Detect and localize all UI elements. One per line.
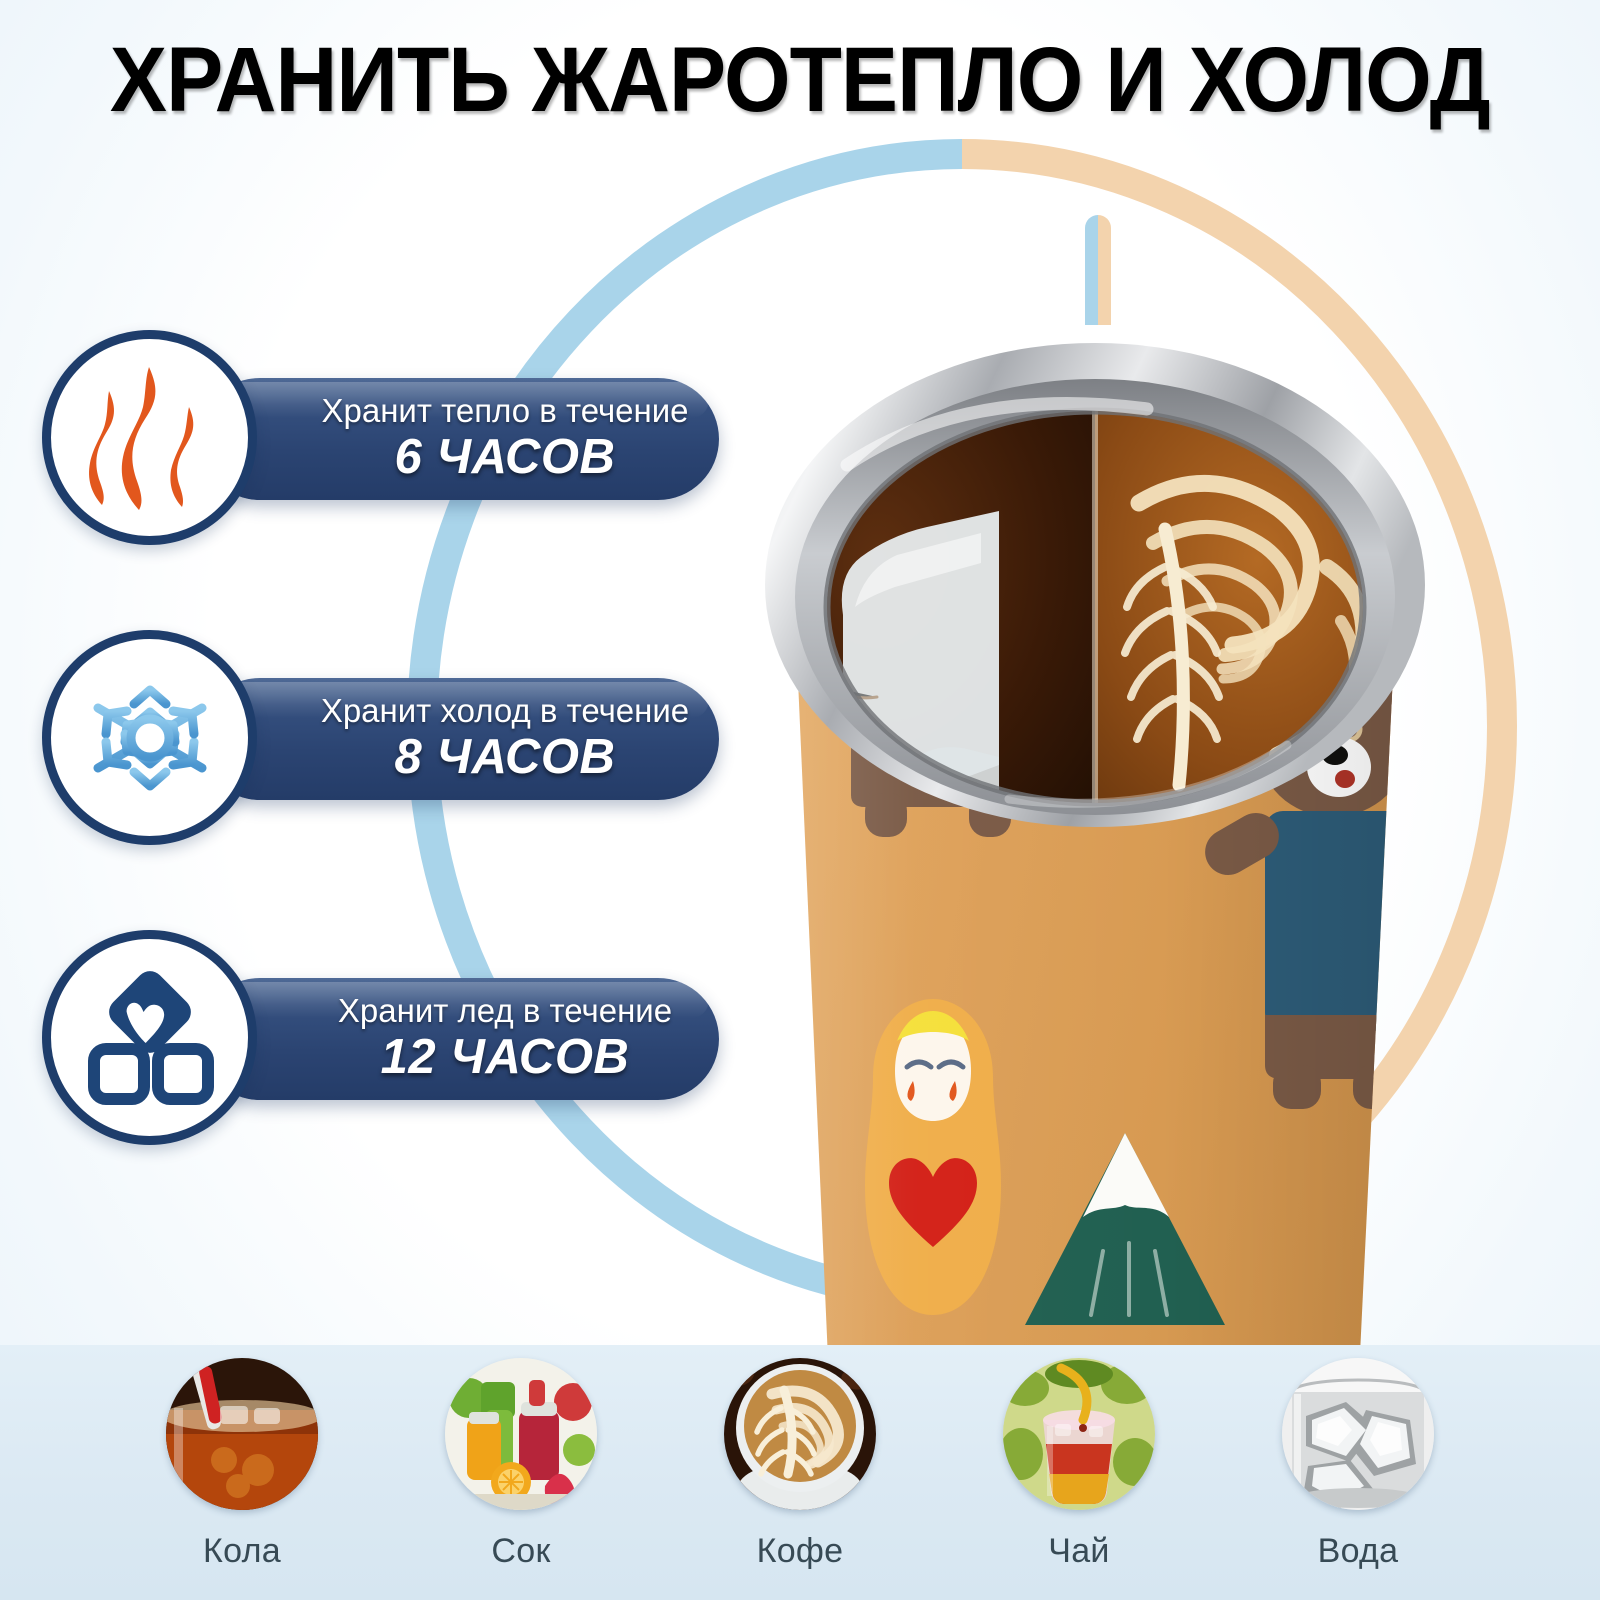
juice-icon <box>445 1358 597 1510</box>
drink-label: Сок <box>491 1532 550 1571</box>
drink-item-coffee[interactable]: Кофе <box>723 1358 878 1571</box>
cup-opening <box>735 315 1455 835</box>
feature-item-cold[interactable]: Хранит холод в течение 8 ЧАСОВ <box>24 630 724 845</box>
feature-cold-caption: Хранит холод в течение <box>321 694 689 729</box>
drink-item-water[interactable]: Вода <box>1281 1358 1436 1571</box>
heat-waves-icon <box>42 330 257 545</box>
drink-label: Кофе <box>757 1532 844 1571</box>
feature-ice-caption: Хранит лед в течение <box>338 994 672 1029</box>
drink-label: Вода <box>1318 1532 1399 1571</box>
feature-pill-ice[interactable]: Хранит лед в течение 12 ЧАСОВ <box>199 978 719 1100</box>
feature-list: Хранит тепло в течение 6 ЧАСОВ Хранит хо… <box>24 330 724 1145</box>
drink-label: Чай <box>1048 1532 1109 1571</box>
ice-cubes-icon <box>42 930 257 1145</box>
feature-heat-duration: 6 ЧАСОВ <box>395 431 616 484</box>
feature-item-heat[interactable]: Хранит тепло в течение 6 ЧАСОВ <box>24 330 724 545</box>
tea-icon <box>1003 1358 1155 1510</box>
snowflake-icon <box>42 630 257 845</box>
infographic-canvas: ХРАНИТЬ ЖАРОТЕПЛО И ХОЛОД Хранит тепло в… <box>0 0 1600 1600</box>
page-title: ХРАНИТЬ ЖАРОТЕПЛО И ХОЛОД <box>0 34 1600 126</box>
coffee-icon <box>724 1358 876 1510</box>
drink-label: Кола <box>203 1532 281 1571</box>
water-icon <box>1282 1358 1434 1510</box>
drink-item-tea[interactable]: Чай <box>1002 1358 1157 1571</box>
drink-item-juice[interactable]: Сок <box>444 1358 599 1571</box>
feature-pill-cold[interactable]: Хранит холод в течение 8 ЧАСОВ <box>199 678 719 800</box>
page-title-text: ХРАНИТЬ ЖАРОТЕПЛО И ХОЛОД <box>110 34 1490 126</box>
feature-pill-heat[interactable]: Хранит тепло в течение 6 ЧАСОВ <box>199 378 719 500</box>
product-tumbler <box>735 255 1455 1350</box>
drink-list: Кола <box>0 1358 1600 1598</box>
feature-item-ice[interactable]: Хранит лед в течение 12 ЧАСОВ <box>24 930 724 1145</box>
cola-icon <box>166 1358 318 1510</box>
feature-ice-duration: 12 ЧАСОВ <box>381 1031 630 1084</box>
feature-cold-duration: 8 ЧАСОВ <box>395 731 616 784</box>
feature-heat-caption: Хранит тепло в течение <box>321 394 688 429</box>
drink-item-cola[interactable]: Кола <box>165 1358 320 1571</box>
